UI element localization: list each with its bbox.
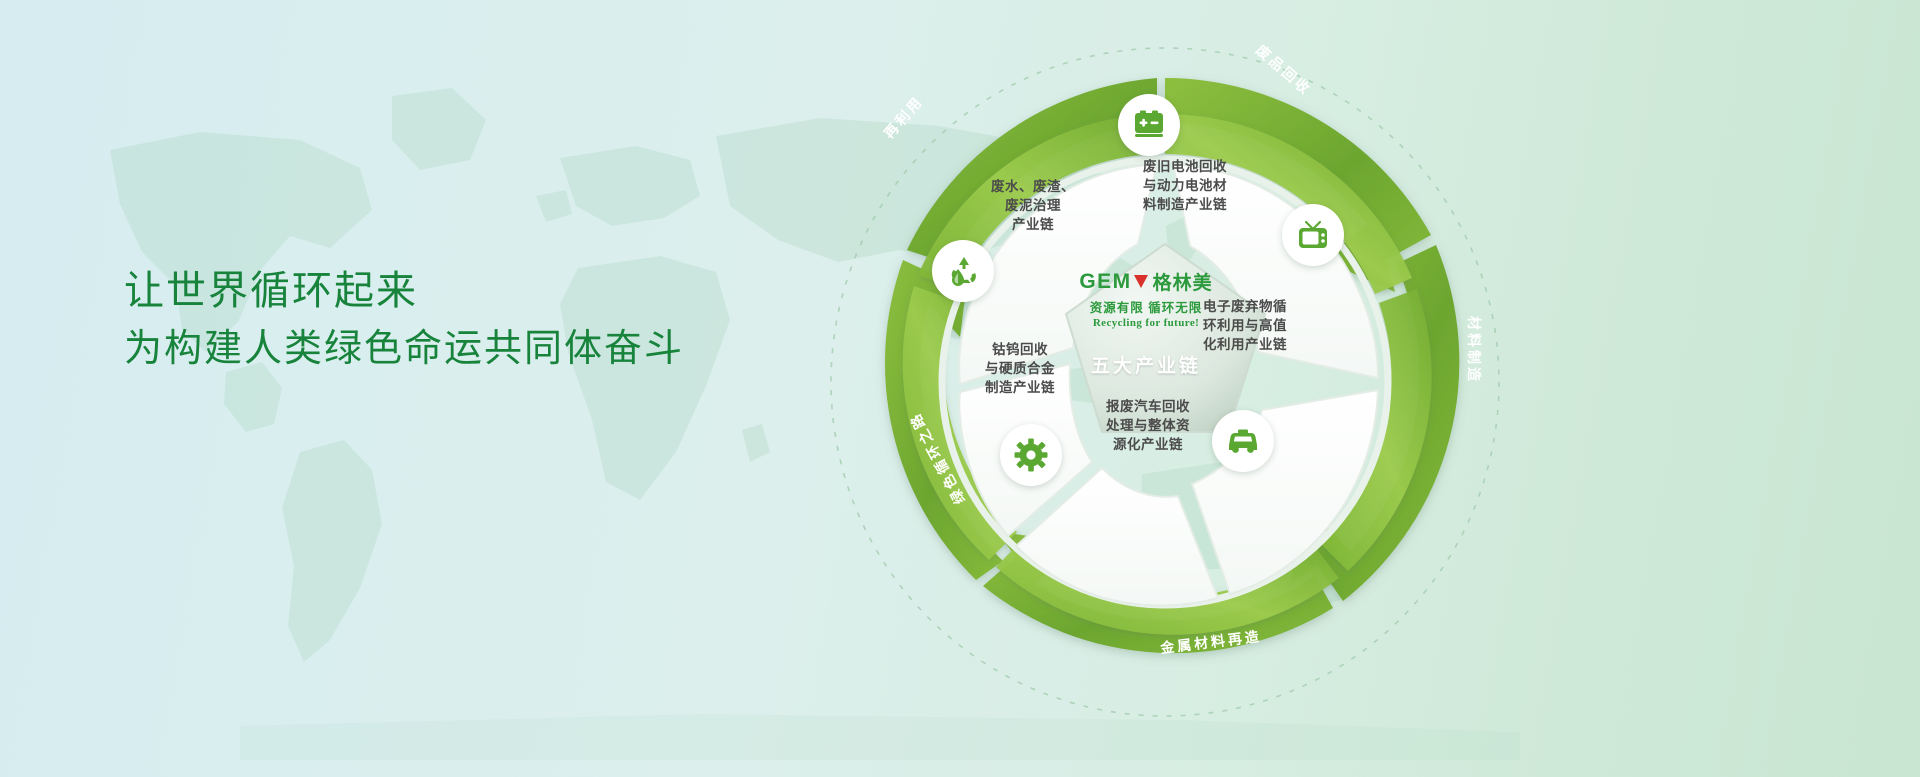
center-logo-block: GEM 格林美 资源有限 循环无限 Recycling for future! … (1056, 268, 1236, 378)
logo-latin-text: GEM (1079, 270, 1131, 294)
car-icon-bubble[interactable] (1212, 410, 1274, 472)
gear-icon-bubble[interactable] (1000, 424, 1062, 486)
logo-slogan-cn: 资源有限 循环无限 (1056, 297, 1236, 316)
gear-icon (1014, 438, 1048, 472)
headline-block: 让世界循环起来 为构建人类绿色命运共同体奋斗 (124, 262, 884, 377)
diagram-svg (820, 0, 1720, 777)
wedge-label-scrap-car: 报废汽车回收 处理与整体资 源化产业链 (1082, 397, 1214, 454)
tv-icon (1296, 218, 1330, 252)
center-title: 五大产业链 (1056, 351, 1236, 378)
tv-icon-bubble[interactable] (1282, 204, 1344, 266)
battery-icon-bubble[interactable] (1118, 94, 1180, 156)
logo-chinese-text: 格林美 (1153, 268, 1213, 295)
recycle-drop-icon-bubble[interactable] (932, 240, 994, 302)
wedge-label-battery: 废旧电池回收 与动力电池材 料制造产业链 (1120, 157, 1250, 214)
logo-row: GEM 格林美 (1056, 268, 1236, 295)
recycle-drop-icon (945, 253, 981, 289)
battery-icon (1132, 108, 1166, 142)
ring-label-material-mfg: 材料制造 (1464, 316, 1484, 384)
headline-line-1: 让世界循环起来 (124, 262, 884, 321)
headline-line-2: 为构建人类绿色命运共同体奋斗 (124, 321, 884, 377)
logo-triangle-icon (1134, 275, 1148, 288)
five-industry-chain-diagram: 废水、废渣、 废泥治理 产业链 废旧电池回收 与动力电池材 料制造产业链 电子废… (820, 0, 1720, 777)
car-icon (1225, 423, 1261, 459)
logo-slogan-en: Recycling for future! (1056, 317, 1236, 329)
wedge-label-waste-water: 废水、废渣、 废泥治理 产业链 (968, 177, 1098, 234)
